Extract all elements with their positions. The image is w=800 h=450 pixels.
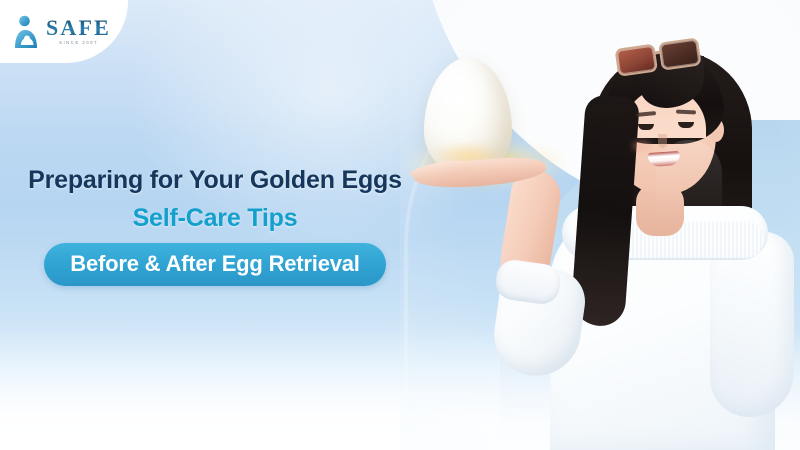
headline-block: Preparing for Your Golden Eggs Self-Care… — [0, 166, 430, 286]
model-figure — [400, 0, 800, 450]
logo-wordmark: SAFE — [46, 17, 111, 39]
logo-tagline: SINCE 2007 — [46, 41, 111, 45]
sunglasses-lens-left — [615, 44, 659, 77]
promo-banner: SAFE SINCE 2007 — [0, 0, 800, 450]
cheek-blush — [632, 140, 652, 152]
brand-logo[interactable]: SAFE SINCE 2007 — [0, 0, 128, 63]
nose — [658, 134, 667, 148]
sunglasses-lens-right — [658, 37, 702, 70]
parent-and-baby-icon — [12, 15, 40, 49]
headline-primary: Preparing for Your Golden Eggs — [0, 166, 430, 195]
topic-pill-badge[interactable]: Before & After Egg Retrieval — [44, 243, 385, 286]
headline-secondary: Self-Care Tips — [0, 204, 430, 233]
logo-text-group: SAFE SINCE 2007 — [46, 17, 111, 45]
